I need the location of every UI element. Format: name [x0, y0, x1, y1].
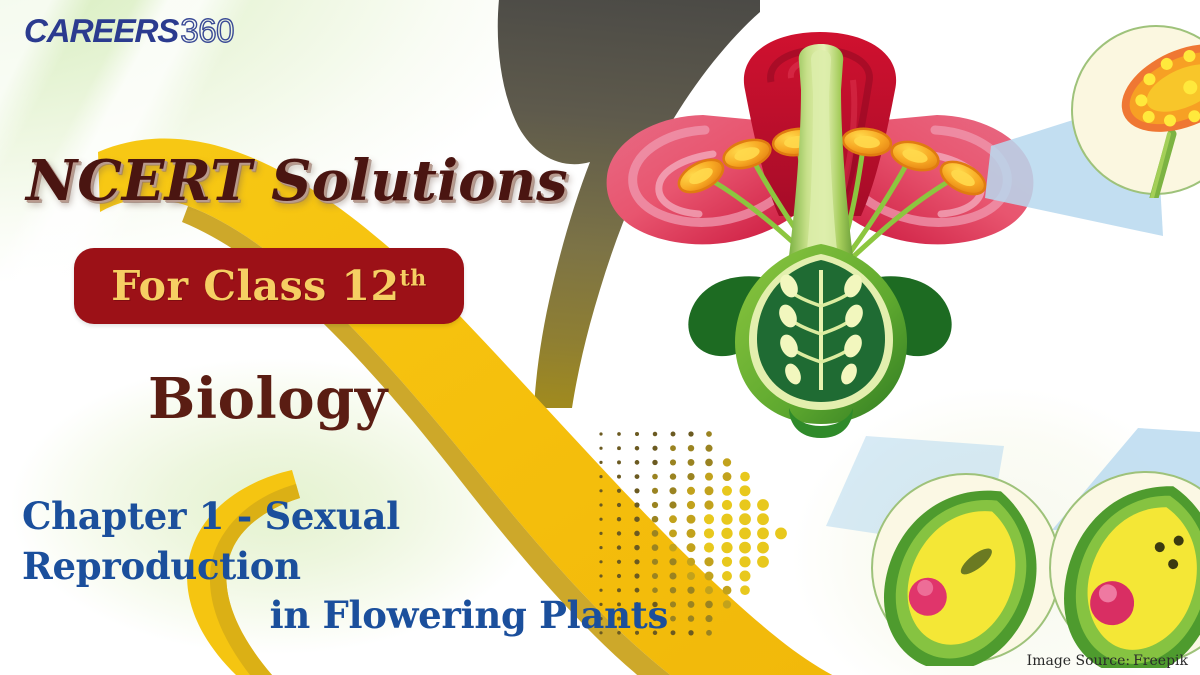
halftone-dot: [723, 600, 731, 608]
halftone-dot: [599, 432, 602, 435]
halftone-dot: [721, 528, 732, 539]
halftone-dot: [670, 459, 676, 465]
halftone-dot: [669, 572, 676, 579]
halftone-dot: [617, 446, 621, 450]
halftone-dot: [723, 586, 732, 595]
halftone-dot: [688, 615, 694, 621]
halftone-dot: [671, 630, 676, 635]
halftone-dot: [653, 432, 658, 437]
class-badge-prefix: For Class 12: [111, 262, 399, 310]
halftone-dot: [704, 500, 713, 509]
halftone-dot: [740, 585, 750, 595]
halftone-dot: [739, 513, 751, 525]
halftone-dot: [669, 501, 676, 508]
magnifier-ovule-middle-circle: [868, 470, 1064, 666]
class-badge-label: For Class 12th: [111, 262, 427, 310]
halftone-dot: [687, 558, 695, 566]
halftone-dot: [669, 558, 676, 565]
magnifier-anther-circle: [1068, 22, 1200, 198]
halftone-dot: [669, 487, 676, 494]
halftone-dot: [670, 601, 676, 607]
halftone-dot: [687, 473, 694, 480]
chapter-line-2: in Flowering Plants: [22, 591, 668, 641]
halftone-dot: [740, 571, 751, 582]
halftone-dot: [757, 499, 769, 511]
magnifier-ovule-right-circle: [1046, 468, 1200, 668]
halftone-dot: [652, 446, 657, 451]
halftone-dot: [739, 528, 751, 540]
halftone-dot: [739, 499, 750, 510]
halftone-dot: [617, 475, 621, 479]
halftone-dot: [617, 460, 621, 464]
halftone-dot: [722, 486, 732, 496]
image-credit: Image Source:Freepik: [1027, 653, 1188, 669]
halftone-dot: [722, 500, 732, 510]
halftone-dot: [670, 587, 676, 593]
halftone-dot: [704, 543, 714, 553]
halftone-dot: [721, 542, 732, 553]
halftone-dot: [635, 474, 640, 479]
logo-360-text: 360: [180, 12, 234, 50]
logo-careers-text: CAREERS: [24, 12, 179, 50]
halftone-dot: [687, 587, 694, 594]
halftone-dot: [757, 528, 769, 540]
halftone-dot: [687, 529, 696, 538]
image-credit-label: Image Source:: [1027, 653, 1130, 669]
halftone-dot: [687, 515, 696, 524]
subject-title: Biology: [148, 366, 388, 432]
halftone-dot: [705, 601, 713, 609]
halftone-dot: [652, 474, 658, 480]
halftone-dot: [635, 446, 640, 451]
halftone-dot: [687, 487, 695, 495]
class-badge: For Class 12th: [74, 248, 464, 324]
halftone-dot: [705, 572, 714, 581]
halftone-dot: [705, 486, 714, 495]
page-title: NCERT Solutions: [26, 148, 568, 214]
halftone-dot: [757, 542, 769, 554]
halftone-dot: [705, 615, 712, 622]
halftone-dot: [669, 515, 677, 523]
halftone-dot: [617, 432, 621, 436]
halftone-dot: [740, 485, 751, 496]
halftone-dot: [706, 630, 712, 636]
careers360-logo[interactable]: CAREERS 360: [24, 12, 234, 50]
halftone-dot: [704, 514, 714, 524]
halftone-dot: [721, 514, 732, 525]
halftone-dot: [705, 445, 712, 452]
halftone-dot: [635, 432, 639, 436]
halftone-dot: [722, 557, 732, 567]
poster-canvas: CAREERS 360 NCERT Solutions For Class 12…: [0, 0, 1200, 675]
halftone-dot: [704, 557, 713, 566]
halftone-dot: [740, 472, 750, 482]
halftone-dot: [635, 460, 640, 465]
halftone-dot: [723, 458, 731, 466]
halftone-dot: [757, 513, 769, 525]
halftone-dot: [688, 459, 695, 466]
halftone-dot: [687, 501, 695, 509]
halftone-dot: [599, 475, 602, 478]
halftone-dot: [652, 460, 657, 465]
halftone-dot: [757, 556, 769, 568]
halftone-dot: [688, 445, 694, 451]
halftone-dot: [687, 572, 695, 580]
halftone-dot: [705, 586, 713, 594]
halftone-dot: [706, 431, 712, 437]
halftone-dot: [671, 432, 676, 437]
halftone-dot: [705, 473, 713, 481]
halftone-dot: [599, 447, 602, 450]
halftone-dot: [775, 528, 787, 540]
halftone-dot: [723, 472, 732, 481]
halftone-dot: [670, 473, 676, 479]
halftone-dot: [705, 459, 713, 467]
halftone-dot: [688, 601, 695, 608]
halftone-dot: [739, 556, 750, 567]
halftone-dot: [670, 616, 676, 622]
halftone-dot: [739, 542, 751, 554]
image-credit-value: Freepik: [1133, 653, 1188, 669]
halftone-dot: [669, 529, 677, 537]
halftone-dot: [669, 544, 677, 552]
chapter-title: Chapter 1 - Sexual Reproduction in Flowe…: [22, 492, 668, 641]
halftone-dot: [687, 543, 696, 552]
class-badge-ordinal: th: [400, 265, 427, 291]
halftone-dot: [599, 461, 602, 464]
halftone-dot: [688, 630, 693, 635]
halftone-dot: [722, 571, 732, 581]
chapter-line-1: Chapter 1 - Sexual Reproduction: [22, 492, 668, 591]
halftone-dot: [704, 528, 714, 538]
halftone-dot: [670, 445, 676, 451]
halftone-dot: [688, 431, 693, 436]
